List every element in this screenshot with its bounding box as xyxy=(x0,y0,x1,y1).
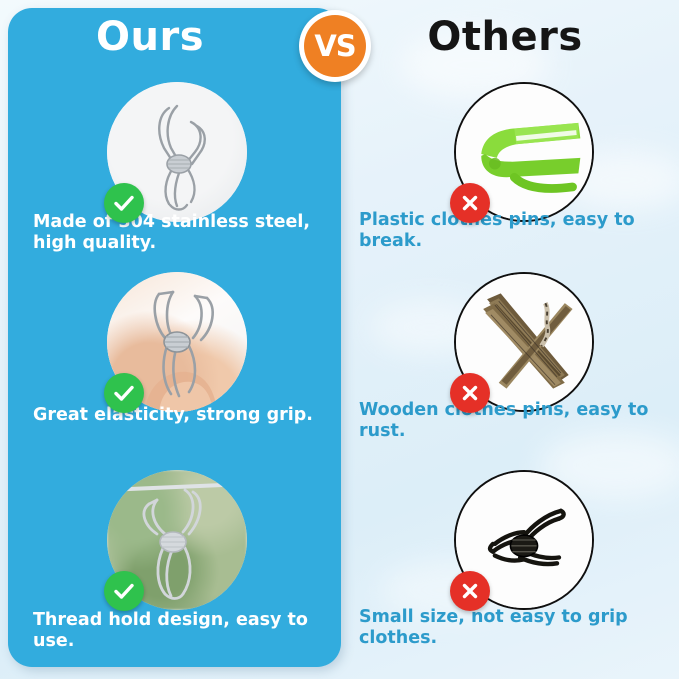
ours-item-1: Made of 304 stainless steel, high qualit… xyxy=(8,82,341,262)
others-item-1: Plastic clothes pins, easy to break. xyxy=(349,82,679,262)
others-item-3: Small size, not easy to grip clothes. xyxy=(349,470,679,655)
ours-item-2-caption: Great elasticity, strong grip. xyxy=(33,405,333,426)
cross-icon xyxy=(450,373,490,413)
ours-item-2: Great elasticity, strong grip. xyxy=(8,272,341,452)
others-item-3-caption: Small size, not easy to grip clothes. xyxy=(359,607,679,650)
ours-item-1-caption: Made of 304 stainless steel, high qualit… xyxy=(33,212,333,255)
vs-label: VS xyxy=(314,32,355,61)
comparison-infographic: Ours Others VS xyxy=(0,0,679,679)
ours-item-3-caption: Thread hold design, easy to use. xyxy=(33,610,333,653)
check-icon xyxy=(104,571,144,611)
ours-item-3: Thread hold design, easy to use. xyxy=(8,470,341,655)
vs-badge: VS xyxy=(299,10,371,82)
others-title: Others xyxy=(380,14,630,60)
cross-icon xyxy=(450,571,490,611)
others-item-2: Wooden clothes pins, easy to rust. xyxy=(349,272,679,452)
check-icon xyxy=(104,373,144,413)
vs-badge-circle: VS xyxy=(304,15,366,77)
cross-icon xyxy=(450,183,490,223)
check-icon xyxy=(104,183,144,223)
others-item-2-caption: Wooden clothes pins, easy to rust. xyxy=(359,400,679,443)
others-item-1-caption: Plastic clothes pins, easy to break. xyxy=(359,210,679,253)
ours-title: Ours xyxy=(0,14,300,60)
